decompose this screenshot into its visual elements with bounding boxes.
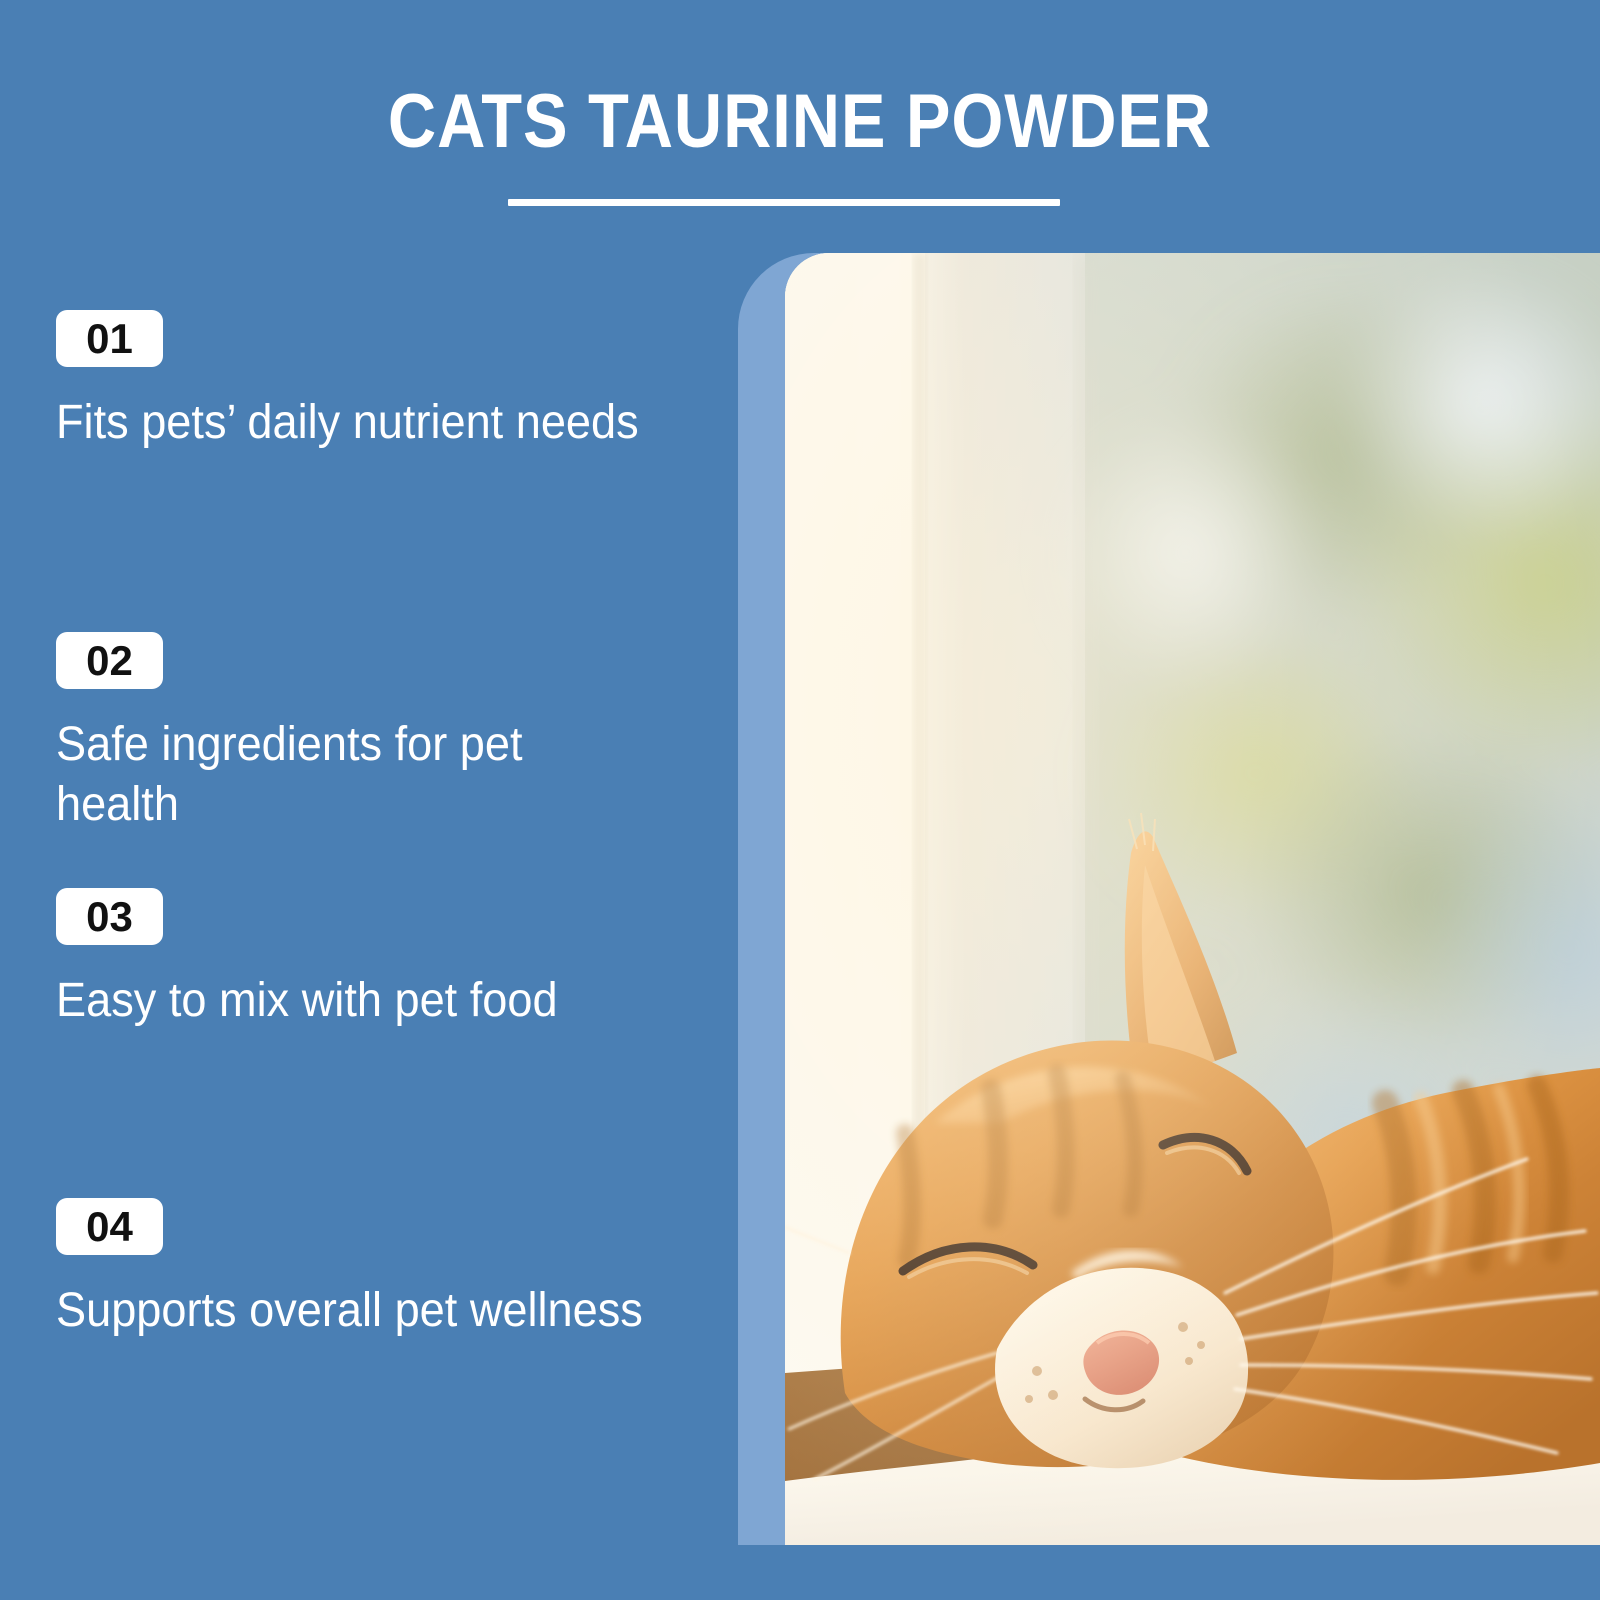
- product-feature-card: CATS TAURINE POWDER 01 Fits pets’ daily …: [0, 0, 1600, 1600]
- feature-number-badge: 04: [56, 1198, 163, 1255]
- feature-text: Fits pets’ daily nutrient needs: [56, 393, 676, 453]
- feature-text: Safe ingredients for pet health: [56, 715, 582, 836]
- feature-number-badge: 03: [56, 888, 163, 945]
- feature-number-badge: 02: [56, 632, 163, 689]
- header: CATS TAURINE POWDER: [0, 0, 1600, 240]
- photo-frame: [738, 253, 1600, 1545]
- feature-text: Supports overall pet wellness: [56, 1281, 676, 1341]
- cat-photo-illustration: [785, 253, 1600, 1545]
- list-item: 03 Easy to mix with pet food: [56, 888, 716, 1031]
- cat-photo: [785, 253, 1600, 1545]
- feature-list: 01 Fits pets’ daily nutrient needs 02 Sa…: [0, 240, 720, 1600]
- list-item: 01 Fits pets’ daily nutrient needs: [56, 310, 716, 453]
- feature-number-badge: 01: [56, 310, 163, 367]
- page-title: CATS TAURINE POWDER: [96, 84, 1504, 160]
- list-item: 04 Supports overall pet wellness: [56, 1198, 716, 1341]
- title-underline: [508, 199, 1060, 206]
- list-item: 02 Safe ingredients for pet health: [56, 632, 716, 836]
- feature-text: Easy to mix with pet food: [56, 971, 676, 1031]
